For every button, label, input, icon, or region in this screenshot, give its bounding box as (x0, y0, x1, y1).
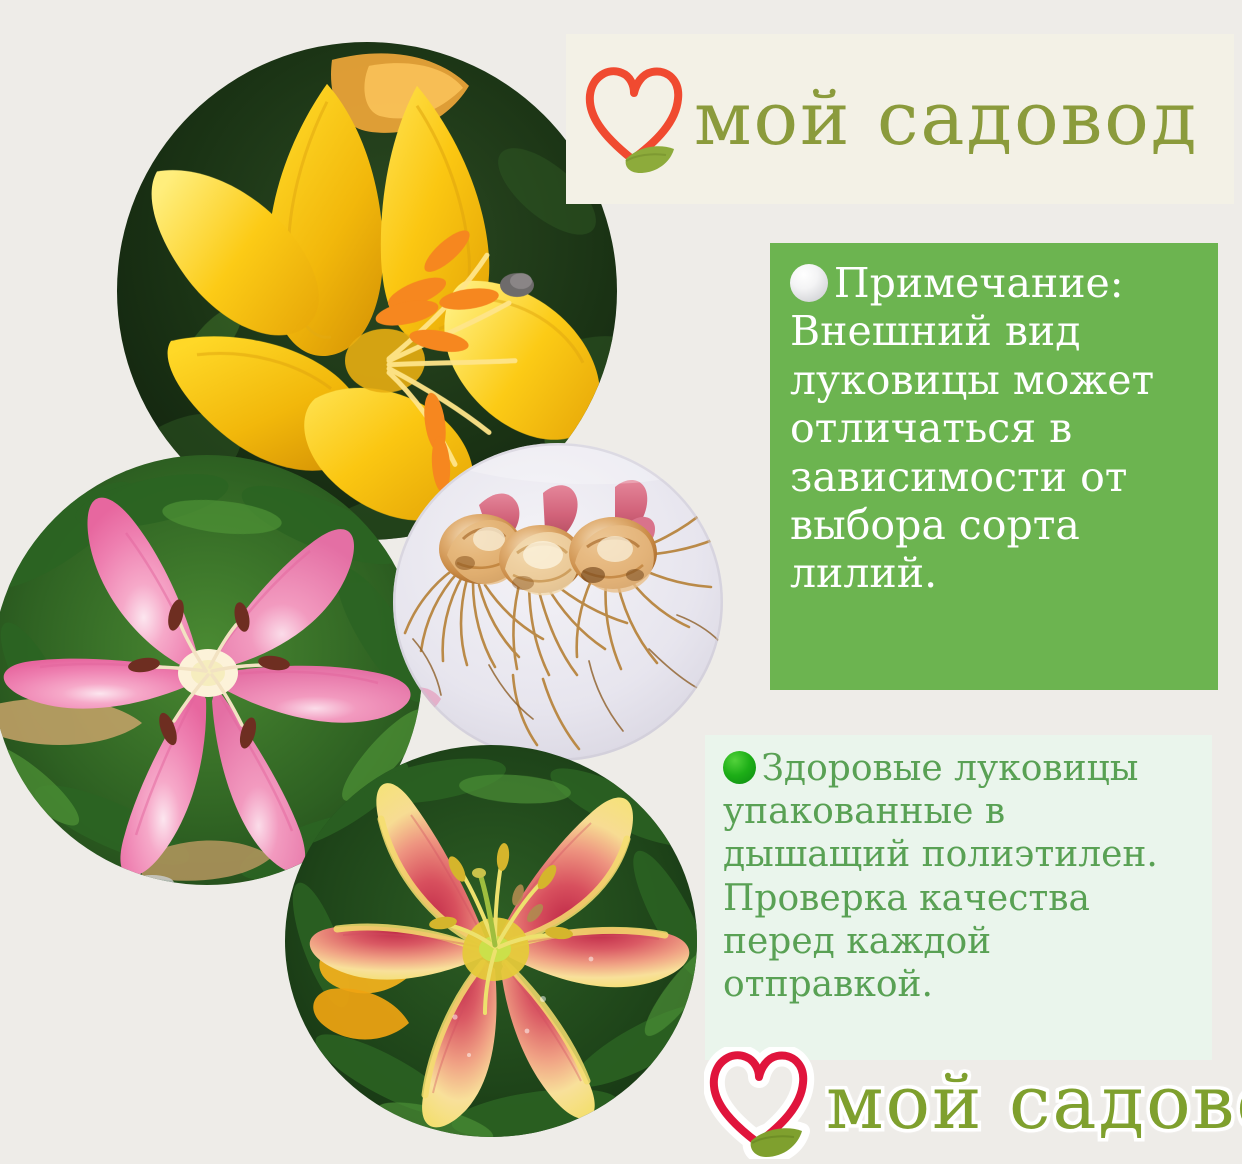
leaf-icon (626, 146, 674, 173)
note-secondary-content: Здоровые луковицы упакованные в дышащий … (723, 748, 1158, 1005)
poster-canvas: мой садовод Примечание: Внешний вид луко… (0, 0, 1242, 1164)
note-primary-content: Примечание: Внешний вид луковицы может о… (790, 259, 1154, 597)
heart-leaf-logo-icon-bottom (704, 1047, 824, 1159)
note-secondary-panel: Здоровые луковицы упакованные в дышащий … (705, 735, 1212, 1060)
note-secondary-text: Здоровые луковицы упакованные в дышащий … (723, 747, 1202, 1006)
photo-red-yellow-lily (285, 745, 697, 1137)
photo-lily-bulbs (393, 443, 723, 761)
note-primary-text: Примечание: Внешний вид луковицы может о… (790, 259, 1196, 598)
logo-bottom-wordmark: мой садовод (826, 1066, 1242, 1140)
white-circle-bullet-icon (790, 264, 828, 302)
logo-top-wordmark: мой садовод (694, 82, 1198, 156)
logo-bottom: мой садовод (704, 1044, 1224, 1162)
heart-leaf-logo-icon (582, 59, 690, 179)
logo-top: мой садовод (566, 34, 1234, 204)
note-primary-panel: Примечание: Внешний вид луковицы может о… (770, 243, 1218, 690)
green-circle-bullet-icon (723, 751, 756, 784)
